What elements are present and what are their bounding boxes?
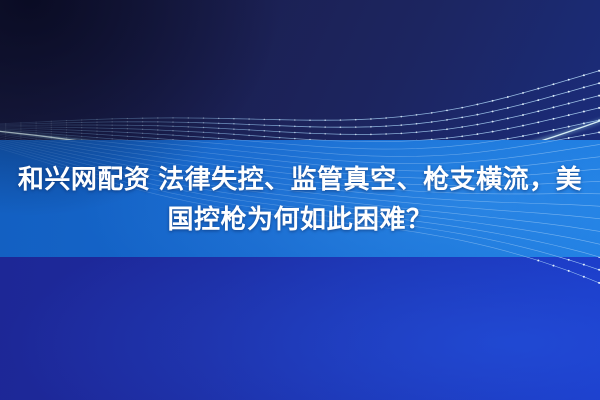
headline-block: 和兴网配资 法律失控、监管真空、枪支横流，美 国控枪为何如此困难？	[0, 140, 600, 257]
headline-line-2: 国控枪为何如此困难？	[167, 201, 432, 237]
promo-banner: 和兴网配资 法律失控、监管真空、枪支横流，美 国控枪为何如此困难？	[0, 0, 600, 400]
headline-line-1: 和兴网配资 法律失控、监管真空、枪支横流，美	[18, 161, 582, 197]
